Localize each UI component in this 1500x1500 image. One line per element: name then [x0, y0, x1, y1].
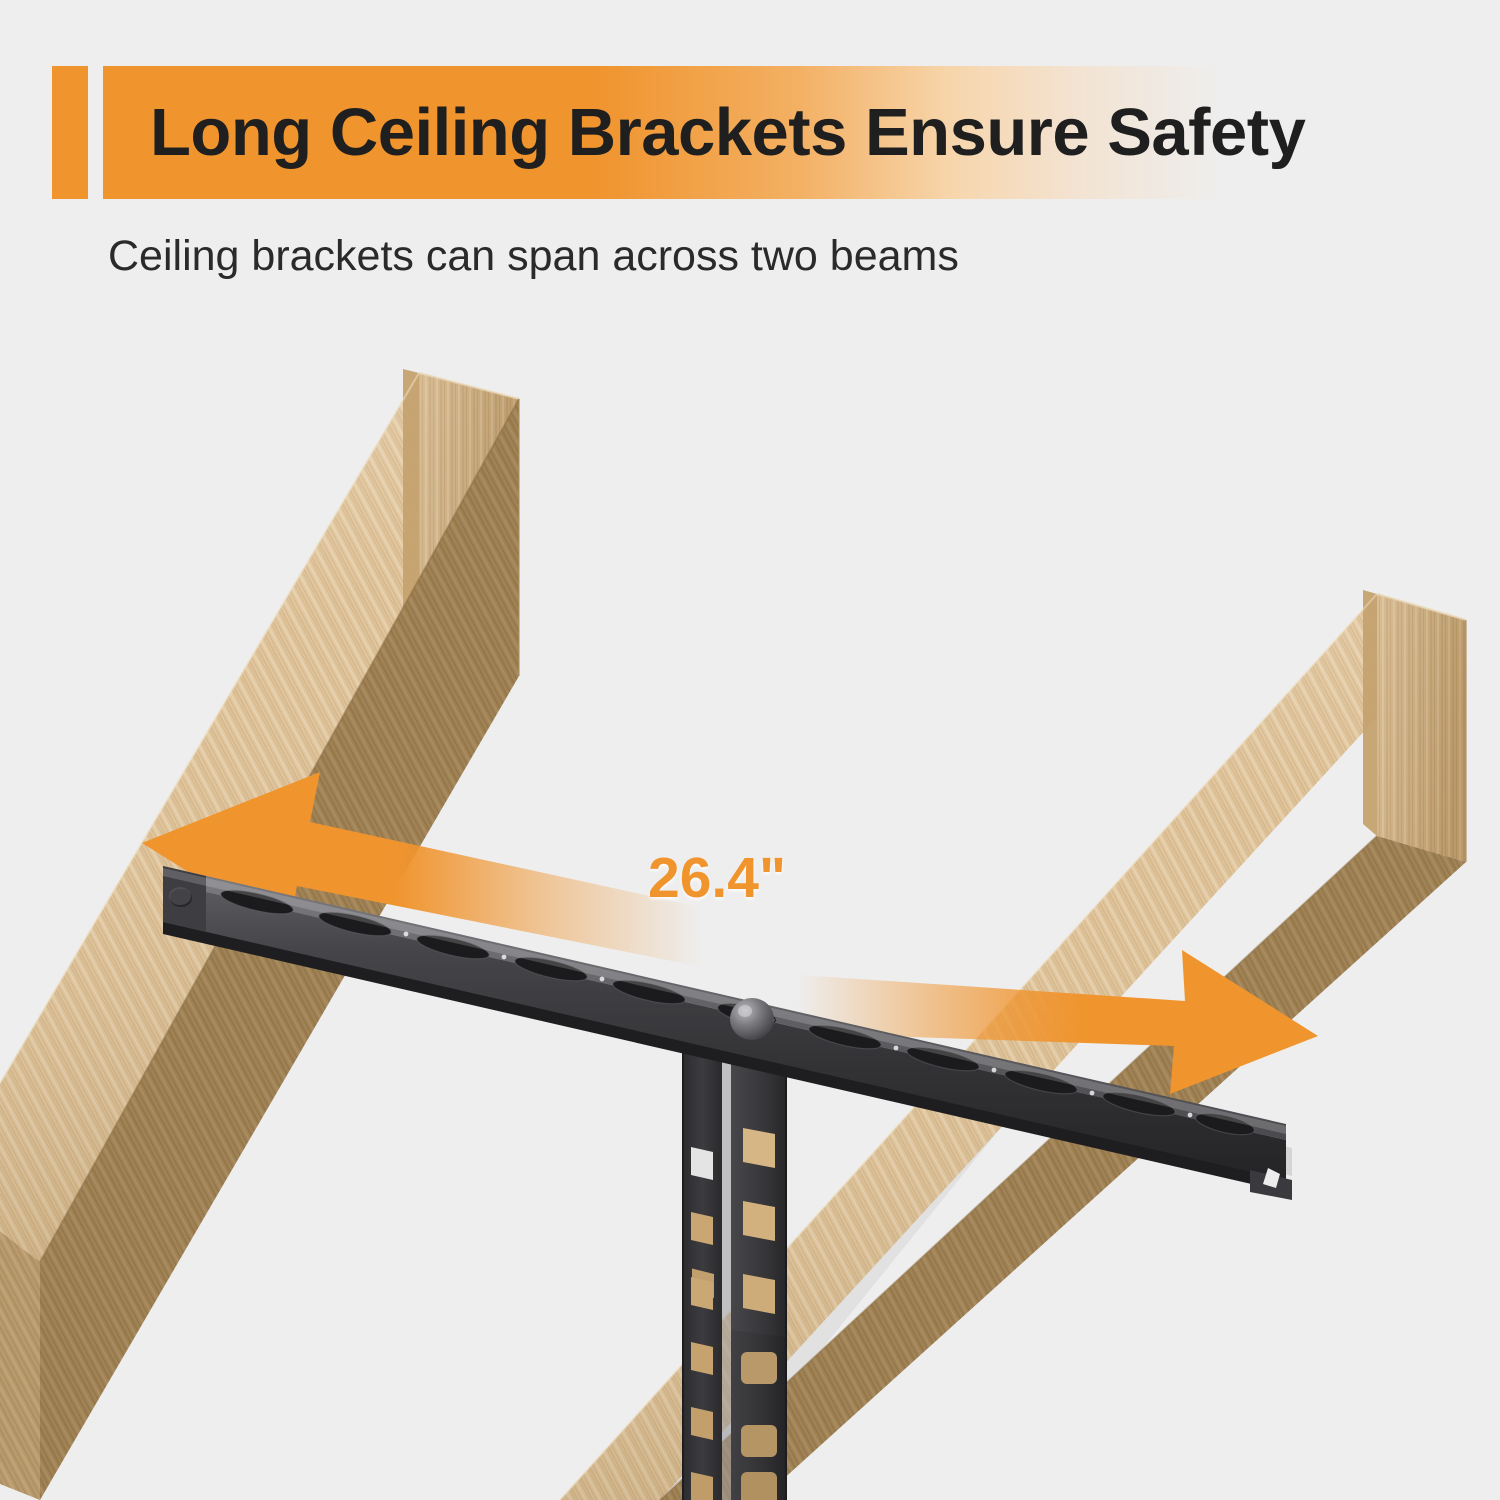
ceiling-bracket-on-beams-illustration	[0, 0, 1500, 1500]
center-bolt-knob	[730, 998, 774, 1040]
vertical-mount-post	[683, 1040, 786, 1500]
infographic-page: Long Ceiling Brackets Ensure Safety Ceil…	[0, 0, 1500, 1500]
dimension-label: 26.4"	[648, 845, 786, 911]
